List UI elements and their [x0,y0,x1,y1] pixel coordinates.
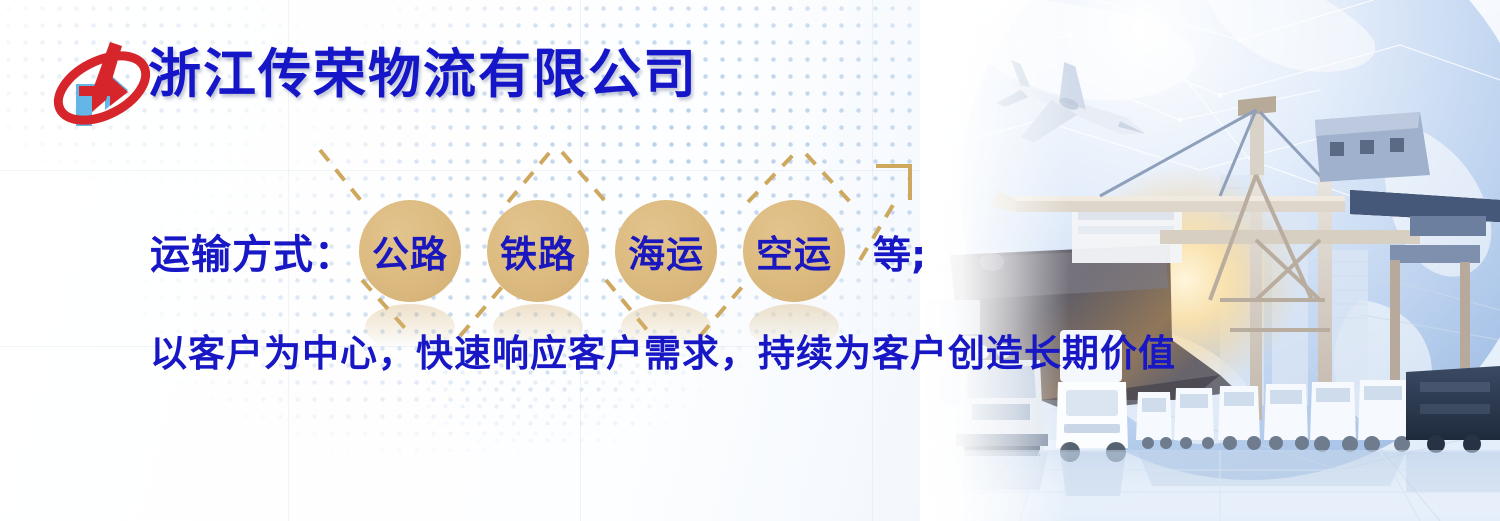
mode-road[interactable]: 公路 [359,200,461,302]
logo-red-swoosh [48,42,156,133]
mode-air[interactable]: 空运 [743,200,845,302]
mode-sea[interactable]: 海运 [615,200,717,302]
mode-rail-label: 铁路 [500,224,576,278]
logistics-banner: 浙江传荣物流有限公司 运输方式： 公路 铁路 海运 [0,0,1500,521]
mode-air-label: 空运 [756,224,832,278]
transport-modes-label: 运输方式： [150,222,355,280]
mode-rail[interactable]: 铁路 [487,200,589,302]
mode-road-label: 公路 [372,224,448,278]
page-title: 浙江传荣物流有限公司 [148,48,698,101]
mode-sea-label: 海运 [628,224,704,278]
transport-modes-suffix: 等; [873,224,926,279]
company-logo [48,34,156,142]
tagline: 以客户为中心，快速响应客户需求，持续为客户创造长期价值 [150,323,1176,377]
transport-modes-row: 运输方式： 公路 铁路 海运 空运 等; [150,196,926,306]
logistics-collage [920,0,1500,521]
